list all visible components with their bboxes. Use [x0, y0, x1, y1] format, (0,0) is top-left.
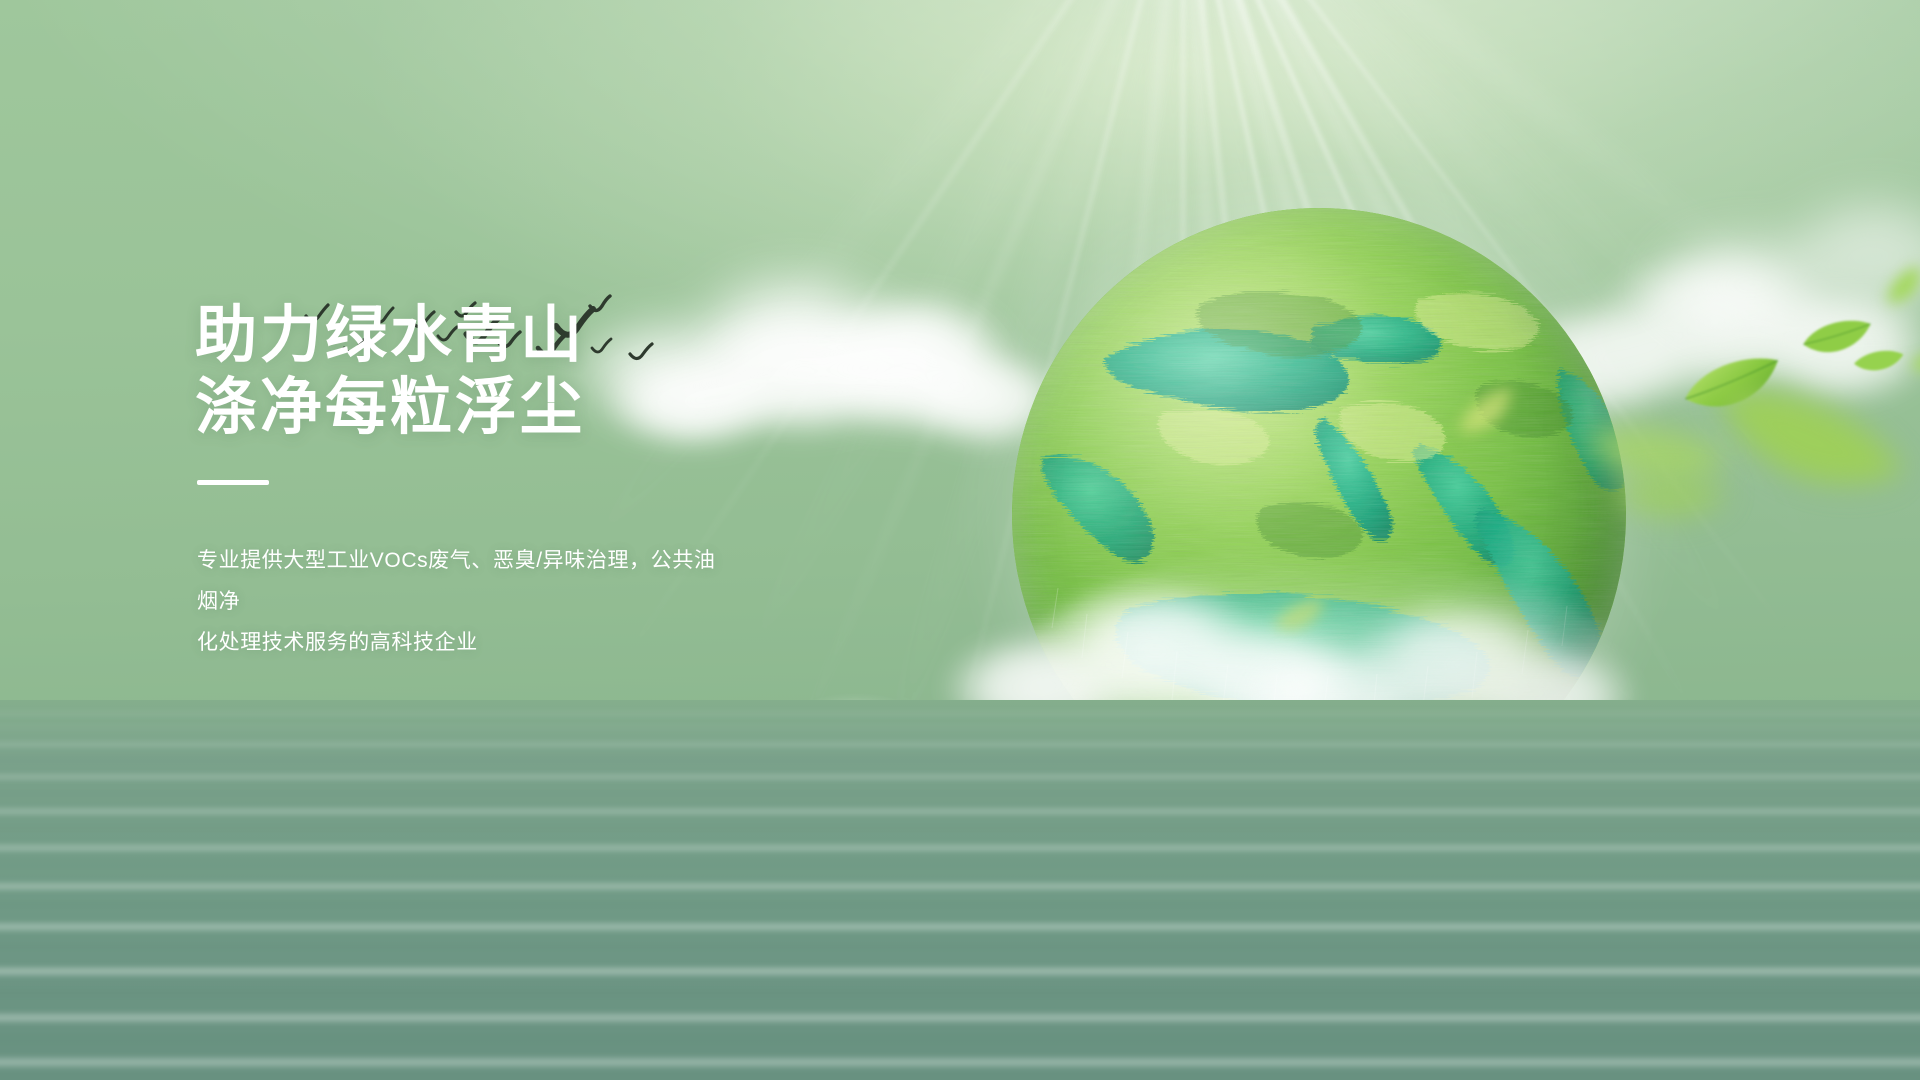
- leaf-svg: [1851, 345, 1908, 378]
- water-ripple: [0, 792, 1920, 795]
- eco-hero-banner: 助力绿水青山 涤净每粒浮尘 专业提供大型工业VOCs废气、恶臭/异味治理，公共油…: [0, 0, 1920, 1080]
- water-ripple: [0, 1012, 1920, 1024]
- leaf-svg: [1607, 464, 1733, 536]
- subtitle-line-2: 化处理技术服务的高科技企业: [197, 623, 737, 664]
- water-ripple: [0, 726, 1920, 728]
- water-ripple: [0, 862, 1920, 866]
- headline-line-1: 助力绿水青山: [195, 300, 955, 372]
- water-ripple: [0, 742, 1920, 747]
- water-ripple: [0, 844, 1920, 852]
- page-title: 助力绿水青山 涤净每粒浮尘: [195, 300, 955, 444]
- water-ripple: [0, 774, 1920, 780]
- leaf-blurred-bottom-edge: [1607, 464, 1733, 536]
- water-ripple: [0, 990, 1920, 996]
- water-ripple: [0, 944, 1920, 949]
- water-ripple: [0, 902, 1920, 907]
- water-ripple: [0, 1036, 1920, 1042]
- subtitle-line-1: 专业提供大型工业VOCs废气、恶臭/异味治理，公共油烟净: [197, 541, 737, 623]
- water-ripple: [0, 826, 1920, 830]
- leaf-sharp-small-right: [1851, 345, 1908, 378]
- water-ripple: [0, 712, 1920, 715]
- water-ripple: [0, 966, 1920, 977]
- water-ripple: [0, 1056, 1920, 1069]
- water-ripple: [0, 808, 1920, 815]
- water-ripple: [0, 922, 1920, 932]
- water-ripples: [0, 700, 1920, 1080]
- hero-copy: 助力绿水青山 涤净每粒浮尘 专业提供大型工业VOCs废气、恶臭/异味治理，公共油…: [195, 300, 955, 664]
- water-ripple: [0, 758, 1920, 761]
- title-divider: [197, 480, 269, 485]
- hero-subtitle: 专业提供大型工业VOCs废气、恶臭/异味治理，公共油烟净 化处理技术服务的高科技…: [197, 541, 737, 664]
- water-ripple: [0, 882, 1920, 891]
- headline-line-2: 涤净每粒浮尘: [195, 372, 955, 444]
